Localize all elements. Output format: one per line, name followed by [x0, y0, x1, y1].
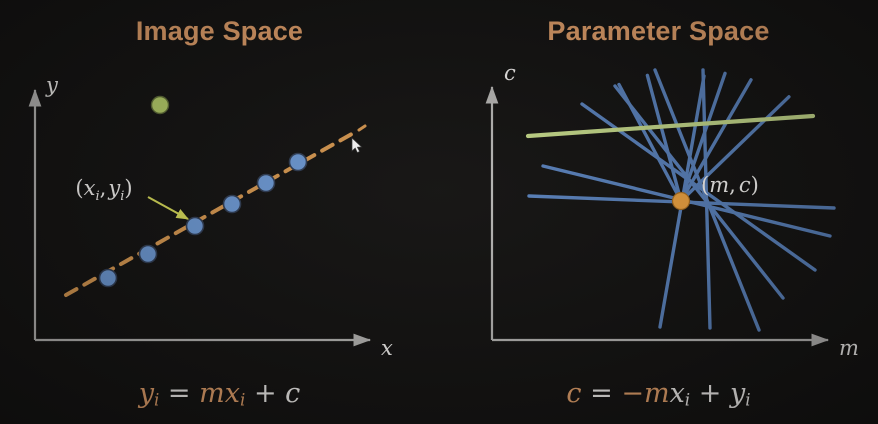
parameter-space-axes: m c	[492, 61, 859, 360]
data-point	[290, 154, 307, 171]
image-space-axes: x y	[35, 73, 393, 360]
c-axis-label: c	[504, 61, 516, 85]
intersection-point-mc	[673, 193, 690, 210]
data-point	[224, 196, 241, 213]
point-label-m-c: (m,c)	[701, 173, 759, 197]
callout-arrow	[148, 197, 188, 219]
diagram-canvas: Image Space yi = mxi + c Parameter Space…	[0, 0, 878, 424]
m-axis-label: m	[839, 336, 859, 360]
mouse-cursor	[352, 138, 362, 153]
x-axis-label: x	[381, 336, 393, 360]
point-label-xi-yi: (xi,yi)	[75, 176, 132, 204]
y-axis-label: y	[45, 73, 59, 97]
plot-layer: x y (xi,yi) m c	[0, 0, 878, 424]
green-outlier-line	[528, 116, 813, 136]
data-point	[100, 270, 117, 287]
data-point-xi-yi	[187, 218, 204, 235]
data-point	[258, 175, 275, 192]
data-point	[140, 246, 157, 263]
outlier-point-green	[152, 97, 169, 114]
fitted-line-tail	[359, 126, 365, 130]
